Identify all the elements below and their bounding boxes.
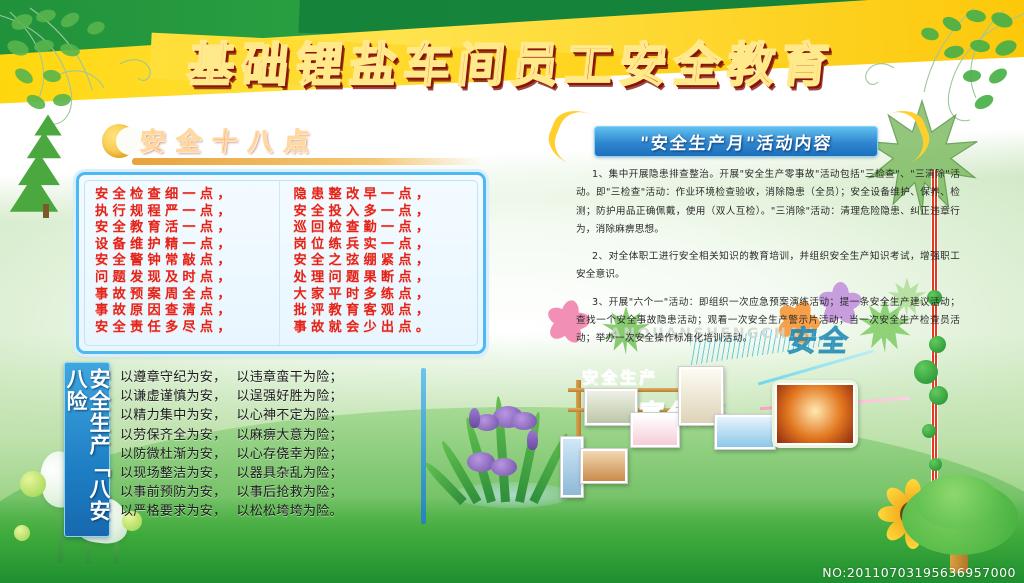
eight-safe-eight-risk-label: 安全生产「八安八险	[64, 362, 110, 537]
eighteen-point-row: 安全之弦绷紧点，	[294, 253, 472, 270]
eighteen-point-row: 安全检查细一点，	[95, 187, 273, 204]
couplet-risk: 以器具杂乱为险；	[236, 466, 342, 481]
eighteen-points-title: 安全十八点	[138, 122, 321, 158]
poster-thumb	[714, 414, 776, 450]
safety-month-paragraph: 2、对全体职工进行安全相关知识的教育培训，并组织安全生产知识考试，增强职工安全意…	[576, 248, 960, 285]
safety-month-panel: "安全生产月"活动内容 1、集中开展隐患排查整治。开展"安全生产零事故"活动包括…	[566, 126, 966, 349]
poster-thumb	[630, 412, 680, 448]
eighteen-points-left-column: 安全检查细一点， 执行规程严一点， 安全教育活一点， 设备维护精一点， 安全警钟…	[85, 181, 279, 345]
eighteen-point-row: 设备维护精一点，	[95, 237, 273, 254]
eighteen-point-row: 岗位练兵实一点，	[294, 237, 472, 254]
couplet-row: 以谦虚谨慎为安，以逞强好胜为险；	[120, 387, 420, 406]
couplet-list: 以遵章守纪为安，以违章蛮干为险； 以谦虚谨慎为安，以逞强好胜为险； 以精力集中为…	[120, 368, 420, 522]
couplet-safe: 以现场整洁为安，	[120, 466, 226, 481]
safety-month-banner-text: "安全生产月"活动内容	[639, 129, 834, 154]
couplet-safe: 以事前预防为安，	[120, 485, 226, 500]
couplet-row: 以防微杜渐为安，以心存侥幸为险；	[120, 445, 420, 464]
eighteen-points-header: 安全十八点	[72, 122, 492, 166]
eighteen-point-row: 事故预案周全点，	[95, 287, 273, 304]
sparkle	[286, 108, 289, 111]
couplet-safe: 以严格要求为安，	[120, 504, 226, 519]
couplet-risk: 以违章蛮干为险；	[236, 370, 342, 385]
couplet-safe: 以防微杜渐为安，	[120, 447, 226, 462]
eighteen-points-rule	[132, 158, 482, 165]
couplet-row: 以遵章守纪为安，以违章蛮干为险；	[120, 368, 420, 387]
couplet-row: 以劳保齐全为安，以麻痹大意为险；	[120, 426, 420, 445]
propaganda-section: 安全生产 宣传画	[560, 358, 960, 538]
couplet-risk: 以逞强好胜为险；	[236, 389, 342, 404]
eighteen-point-row: 大家平时多练点，	[294, 287, 472, 304]
eighteen-point-row: 巡回检查勤一点，	[294, 220, 472, 237]
couplet-safe: 以遵章守纪为安，	[120, 370, 226, 385]
couplet-row: 以现场整洁为安，以器具杂乱为险；	[120, 464, 420, 483]
eighteen-point-row: 事故原因查清点，	[95, 303, 273, 320]
eighteen-point-row: 安全警钟常敲点，	[95, 253, 273, 270]
couplet-row: 以事前预防为安，以事后抢救为险；	[120, 483, 420, 502]
paragraph-text: 1、集中开展隐患排查整治。开展"安全生产零事故"活动包括"三检查"、"三清除"活…	[576, 169, 960, 235]
watermark-id: NO:20110703195636957000	[822, 565, 1016, 580]
safety-month-banner: "安全生产月"活动内容	[594, 126, 878, 157]
sparkle	[742, 110, 746, 114]
couplet-risk: 以事后抢救为险；	[236, 485, 342, 500]
couplet-risk: 以心存侥幸为险；	[236, 447, 342, 462]
couplet-safe: 以精力集中为安，	[120, 408, 226, 423]
safety-month-paragraph: 1、集中开展隐患排查整治。开展"安全生产零事故"活动包括"三检查"、"三清除"活…	[576, 166, 960, 239]
eighteen-point-row: 事故就会少出点。	[294, 320, 472, 337]
poster-title-wrap: 基础锂盐车间员工安全教育	[0, 26, 1024, 95]
eighteen-points-right-column: 隐患整改早一点， 安全投入多一点， 巡回检查勤一点， 岗位练兵实一点， 安全之弦…	[279, 181, 478, 345]
poster-canvas: 基础锂盐车间员工安全教育 安全十八点 安全检查细一点， 执行规程严一点， 安全教…	[0, 0, 1024, 583]
couplet-row: 以精力集中为安，以心神不定为险；	[120, 406, 420, 425]
eighteen-point-row: 执行规程严一点，	[95, 204, 273, 221]
couplet-risk: 以松松垮垮为险。	[236, 504, 342, 519]
iris-flower-icon	[445, 378, 575, 508]
couplet-risk: 以心神不定为险；	[236, 408, 342, 423]
safety-month-paragraph: 3、开展"六个一"活动：即组织一次应急预案演练活动；提一条安全生产建议活动；查找…	[576, 294, 960, 349]
eighteen-point-row: 隐患整改早一点，	[294, 187, 472, 204]
eighteen-point-row: 批评教育客观点，	[294, 303, 472, 320]
eighteen-point-row: 处理问题果断点，	[294, 270, 472, 287]
poster-thumb	[580, 448, 628, 484]
eighteen-points-box: 安全检查细一点， 执行规程严一点， 安全教育活一点， 设备维护精一点， 安全警钟…	[76, 172, 486, 354]
crescent-moon-icon	[102, 124, 136, 158]
couplet-safe: 以劳保齐全为安，	[120, 428, 226, 443]
poster-thumb	[772, 380, 858, 448]
couplet-risk: 以麻痹大意为险；	[236, 428, 342, 443]
vertical-label-text: 安全生产「八安八险	[64, 368, 110, 536]
eighteen-point-row: 安全责任多尽点，	[95, 320, 273, 337]
propaganda-title-small: 安全生产	[582, 364, 658, 388]
paragraph-text: 2、对全体职工进行安全相关知识的教育培训，并组织安全生产知识考试，增强职工安全意…	[576, 251, 960, 280]
eighteen-point-row: 安全投入多一点，	[294, 204, 472, 221]
couplet-safe: 以谦虚谨慎为安，	[120, 389, 226, 404]
paragraph-text: 3、开展"六个一"活动：即组织一次应急预案演练活动；提一条安全生产建议活动；查找…	[576, 297, 960, 345]
eighteen-point-row: 安全教育活一点，	[95, 220, 273, 237]
poster-title: 基础锂盐车间员工安全教育	[184, 26, 839, 95]
couplet-side-bar	[421, 368, 426, 524]
eighteen-point-row: 问题发现及时点，	[95, 270, 273, 287]
couplet-row: 以严格要求为安，以松松垮垮为险。	[120, 502, 420, 521]
